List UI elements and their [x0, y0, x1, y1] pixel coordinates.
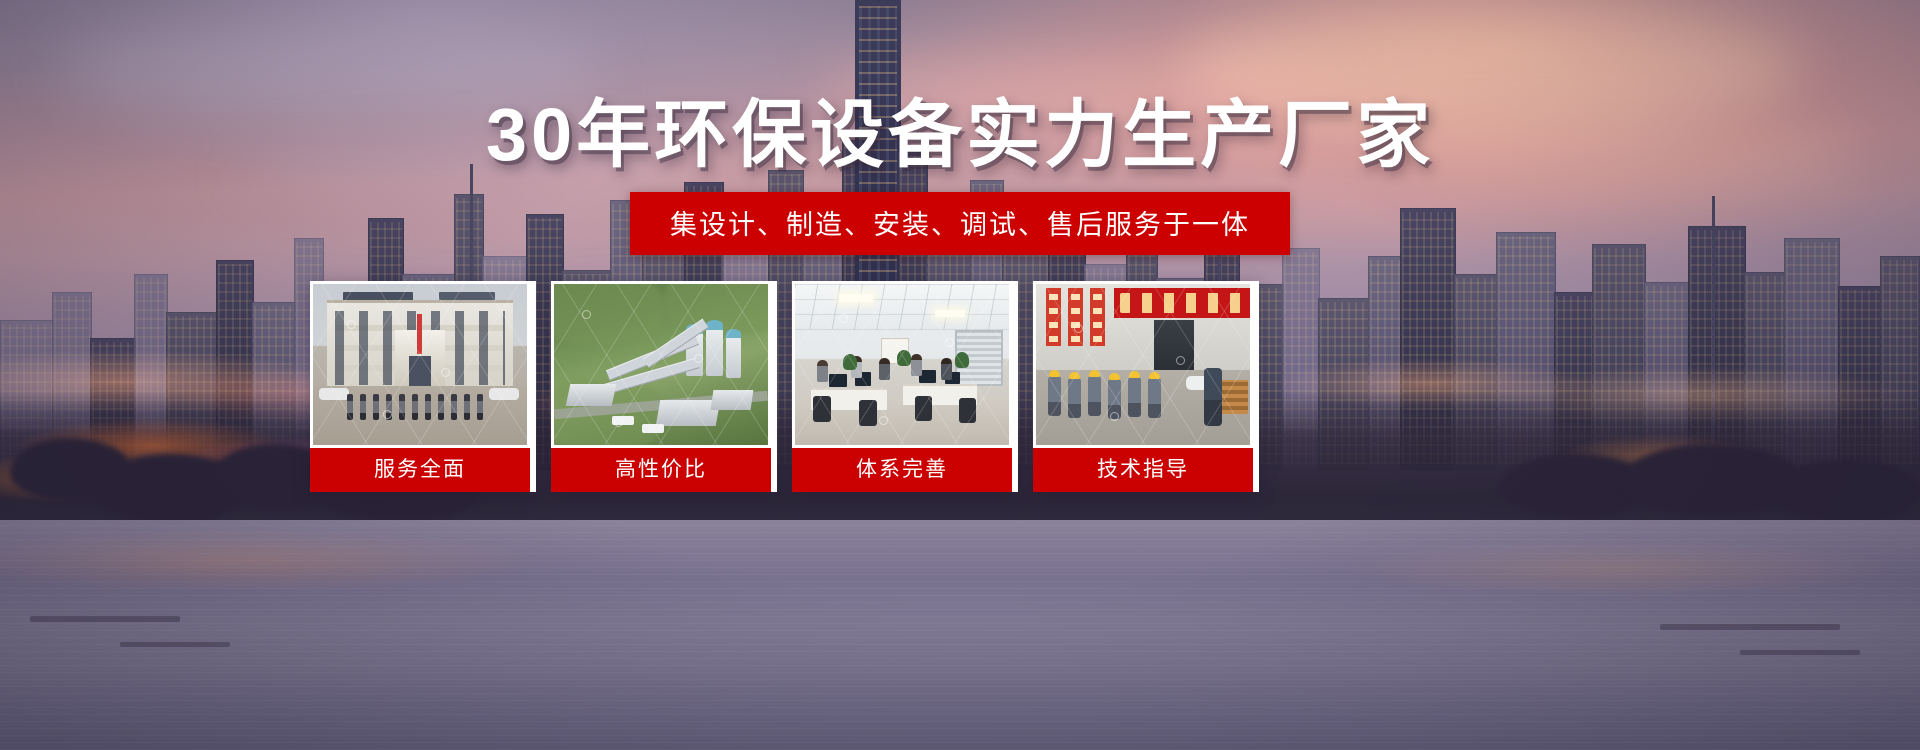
card-caption: 技术指导	[1033, 448, 1253, 492]
card-caption: 服务全面	[310, 448, 530, 492]
feature-card[interactable]: 高性价比	[551, 281, 777, 492]
feature-card-strip: 服务全面	[310, 281, 1259, 492]
feature-card[interactable]: 体系完善	[792, 281, 1018, 492]
card-photo-plant-aerial	[554, 284, 768, 445]
card-photo-workshop-workers	[1036, 284, 1250, 445]
feature-card[interactable]: 技术指导	[1033, 281, 1259, 492]
feature-card[interactable]: 服务全面	[310, 281, 536, 492]
card-caption: 高性价比	[551, 448, 771, 492]
card-photo-office-interior	[795, 284, 1009, 445]
card-photo-office-building	[313, 284, 527, 445]
subtitle-ribbon: 集设计、制造、安装、调试、售后服务于一体	[630, 192, 1290, 255]
card-caption: 体系完善	[792, 448, 1012, 492]
hero-banner: 30年环保设备实力生产厂家 集设计、制造、安装、调试、售后服务于一体	[0, 0, 1920, 750]
page-title: 30年环保设备实力生产厂家	[0, 98, 1920, 172]
